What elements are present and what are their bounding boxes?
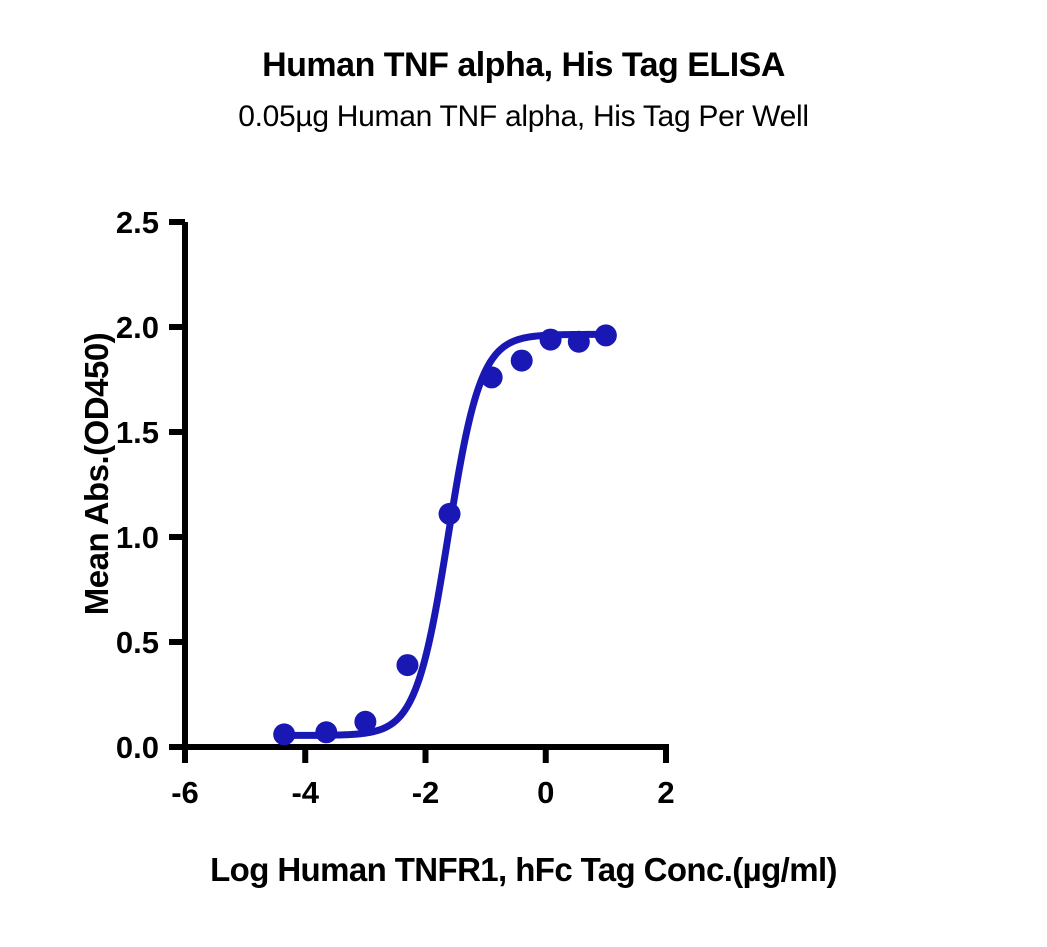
fit-curve — [284, 334, 606, 735]
y-tick-label: 1.5 — [116, 415, 159, 450]
data-point — [481, 366, 503, 388]
data-point — [540, 329, 562, 351]
data-point — [439, 503, 461, 525]
x-tick-label: -6 — [171, 775, 199, 810]
x-tick-labels: -6-4-202 — [171, 775, 674, 810]
data-point — [354, 711, 376, 733]
data-point — [396, 654, 418, 676]
x-tick-label: -4 — [291, 775, 319, 810]
data-point — [273, 723, 295, 745]
y-tick-label: 1.0 — [116, 520, 159, 555]
data-point — [568, 331, 590, 353]
y-tick-label: 2.5 — [116, 205, 159, 240]
chart-canvas: Human TNF alpha, His Tag ELISA 0.05µg Hu… — [0, 0, 1047, 947]
x-tick-label: 2 — [657, 775, 674, 810]
x-tick-label: 0 — [537, 775, 554, 810]
data-point — [511, 350, 533, 372]
x-tick-label: -2 — [412, 775, 440, 810]
data-point — [315, 721, 337, 743]
y-tick-label: 0.5 — [116, 625, 159, 660]
y-tick-labels: 0.00.51.01.52.02.5 — [116, 205, 159, 765]
y-tick-label: 0.0 — [116, 730, 159, 765]
plot-area: 0.00.51.01.52.02.5 -6-4-202 — [0, 0, 1047, 947]
y-tick-label: 2.0 — [116, 310, 159, 345]
data-point — [595, 324, 617, 346]
